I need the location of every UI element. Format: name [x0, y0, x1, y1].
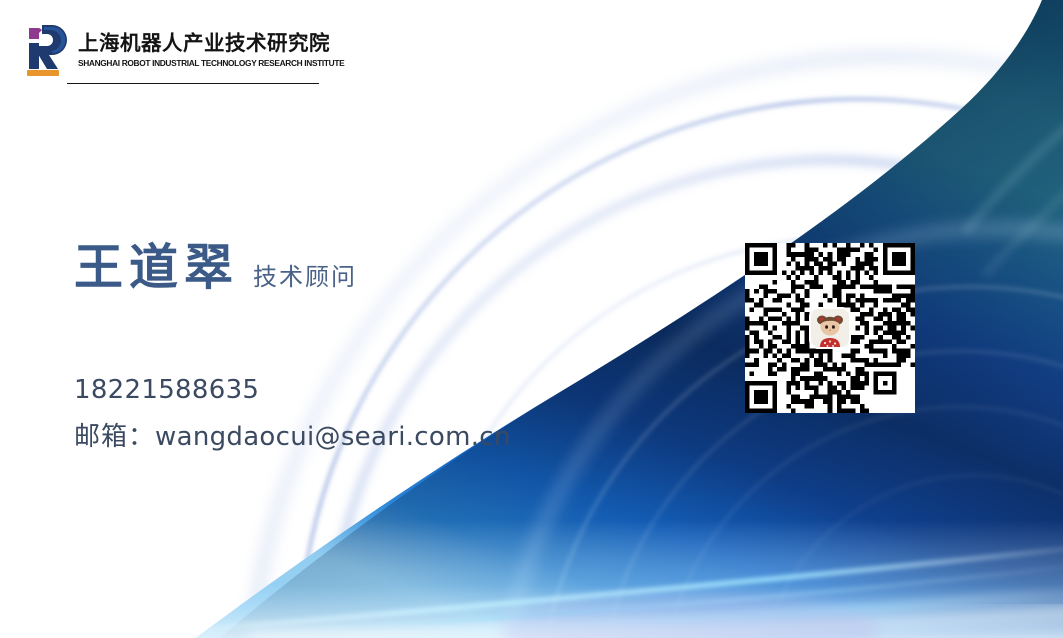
company-name-cn: 上海机器人产业技术研究院 — [78, 31, 353, 55]
person-name: 王道翠 — [74, 243, 239, 292]
company-name-en: SHANGHAI ROBOT INDUSTRIAL TECHNOLOGY RES… — [78, 58, 344, 68]
person-block: 王道翠 技术顾问 — [74, 243, 357, 292]
avatar-illustration — [811, 309, 849, 347]
logo-wordmark: 上海机器人产业技术研究院 SHANGHAI ROBOT INDUSTRIAL T… — [78, 29, 353, 69]
person-title: 技术顾问 — [253, 265, 357, 289]
logo-underline — [67, 83, 319, 84]
business-card: 上海机器人产业技术研究院 SHANGHAI ROBOT INDUSTRIAL T… — [0, 0, 1063, 638]
contact-block: 18221588635 邮箱：wangdaocui@seari.com.cn — [74, 377, 511, 450]
wechat-qr-code[interactable] — [745, 243, 915, 413]
ir-monogram-icon — [20, 18, 68, 80]
contact-phone[interactable]: 18221588635 — [74, 377, 511, 403]
contact-email-label: 邮箱： — [74, 422, 155, 452]
profile-avatar — [811, 309, 849, 347]
company-logo: 上海机器人产业技术研究院 SHANGHAI ROBOT INDUSTRIAL T… — [20, 18, 353, 80]
contact-email[interactable]: 邮箱：wangdaocui@seari.com.cn — [74, 424, 511, 450]
contact-email-value: wangdaocui@seari.com.cn — [155, 422, 511, 452]
